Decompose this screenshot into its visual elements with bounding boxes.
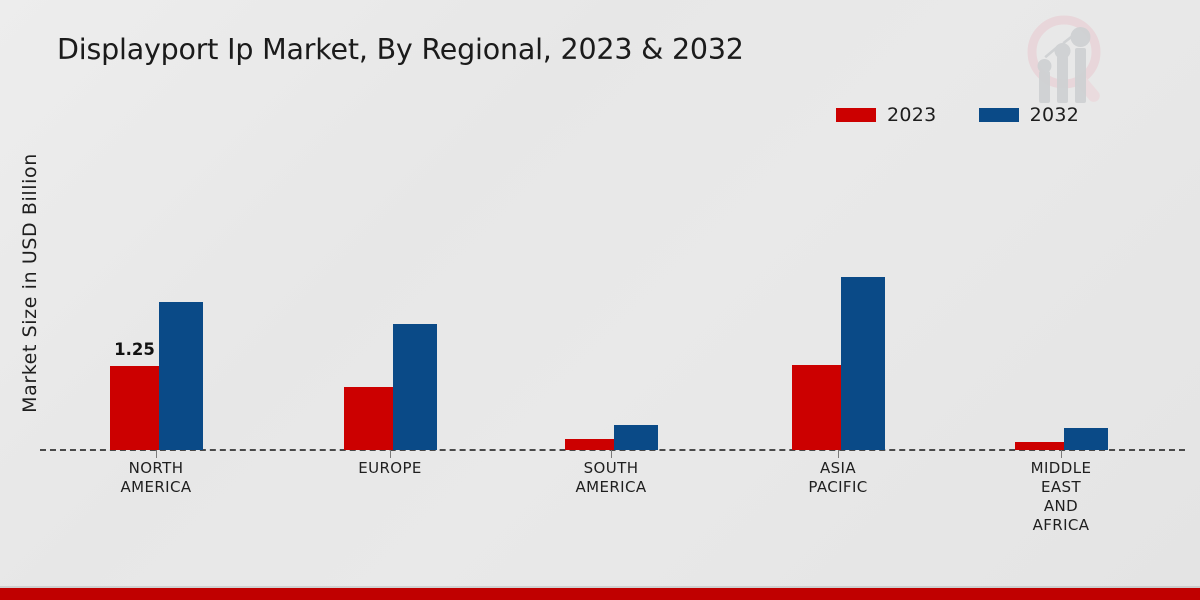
bar-group-north-america: 1.25 NORTHAMERICA bbox=[110, 141, 202, 450]
bar-group-europe: EUROPE bbox=[344, 141, 436, 450]
chart-title: Displayport Ip Market, By Regional, 2023… bbox=[57, 33, 744, 66]
legend-swatch-2032 bbox=[979, 108, 1019, 122]
bars-north-america: 1.25 bbox=[110, 141, 203, 450]
x-label-europe: EUROPE bbox=[295, 459, 485, 478]
x-tick-asia-pacific bbox=[838, 450, 839, 458]
market-research-logo-icon bbox=[1012, 6, 1122, 110]
x-tick-europe bbox=[390, 450, 391, 458]
bottom-accent-bar bbox=[0, 588, 1200, 600]
x-label-north-america: NORTHAMERICA bbox=[61, 459, 251, 497]
bars-south-america bbox=[565, 141, 658, 450]
bars-asia-pacific bbox=[792, 141, 885, 450]
bar-europe-2032[interactable] bbox=[393, 324, 437, 450]
bars-middle-east-africa bbox=[1015, 141, 1108, 450]
x-tick-middle-east-africa bbox=[1061, 450, 1062, 458]
legend-item-2032[interactable]: 2032 bbox=[979, 106, 1080, 125]
bar-south-america-2023[interactable] bbox=[565, 439, 614, 450]
x-tick-north-america bbox=[156, 450, 157, 458]
x-tick-south-america bbox=[611, 450, 612, 458]
plot-area: 1.25 NORTHAMERICA EUROPE SOUTHAMERICA bbox=[40, 140, 1185, 450]
x-label-south-america: SOUTHAMERICA bbox=[516, 459, 706, 497]
bar-north-america-2023[interactable]: 1.25 bbox=[110, 366, 159, 450]
bar-north-america-2032[interactable] bbox=[159, 302, 203, 450]
legend-label-2023: 2023 bbox=[887, 106, 937, 125]
bar-group-middle-east-africa: MIDDLEEASTANDAFRICA bbox=[1015, 141, 1107, 450]
bar-middle-east-africa-2032[interactable] bbox=[1064, 428, 1108, 450]
bar-group-asia-pacific: ASIAPACIFIC bbox=[792, 141, 884, 450]
bar-value-north-america-2023: 1.25 bbox=[114, 340, 155, 359]
legend-label-2032: 2032 bbox=[1030, 106, 1080, 125]
x-label-asia-pacific: ASIAPACIFIC bbox=[743, 459, 933, 497]
bar-group-south-america: SOUTHAMERICA bbox=[565, 141, 657, 450]
bar-asia-pacific-2023[interactable] bbox=[792, 365, 841, 450]
legend-item-2023[interactable]: 2023 bbox=[836, 106, 937, 125]
bar-asia-pacific-2032[interactable] bbox=[841, 277, 885, 450]
chart-container: Displayport Ip Market, By Regional, 2023… bbox=[0, 0, 1200, 600]
bar-south-america-2032[interactable] bbox=[614, 425, 658, 450]
bar-middle-east-africa-2023[interactable] bbox=[1015, 442, 1064, 450]
y-axis-title: Market Size in USD Billion bbox=[19, 103, 41, 463]
bar-europe-2023[interactable] bbox=[344, 387, 393, 450]
bars-europe bbox=[344, 141, 437, 450]
chart-legend: 2023 2032 bbox=[836, 103, 1079, 127]
x-label-middle-east-africa: MIDDLEEASTANDAFRICA bbox=[966, 459, 1156, 535]
legend-swatch-2023 bbox=[836, 108, 876, 122]
